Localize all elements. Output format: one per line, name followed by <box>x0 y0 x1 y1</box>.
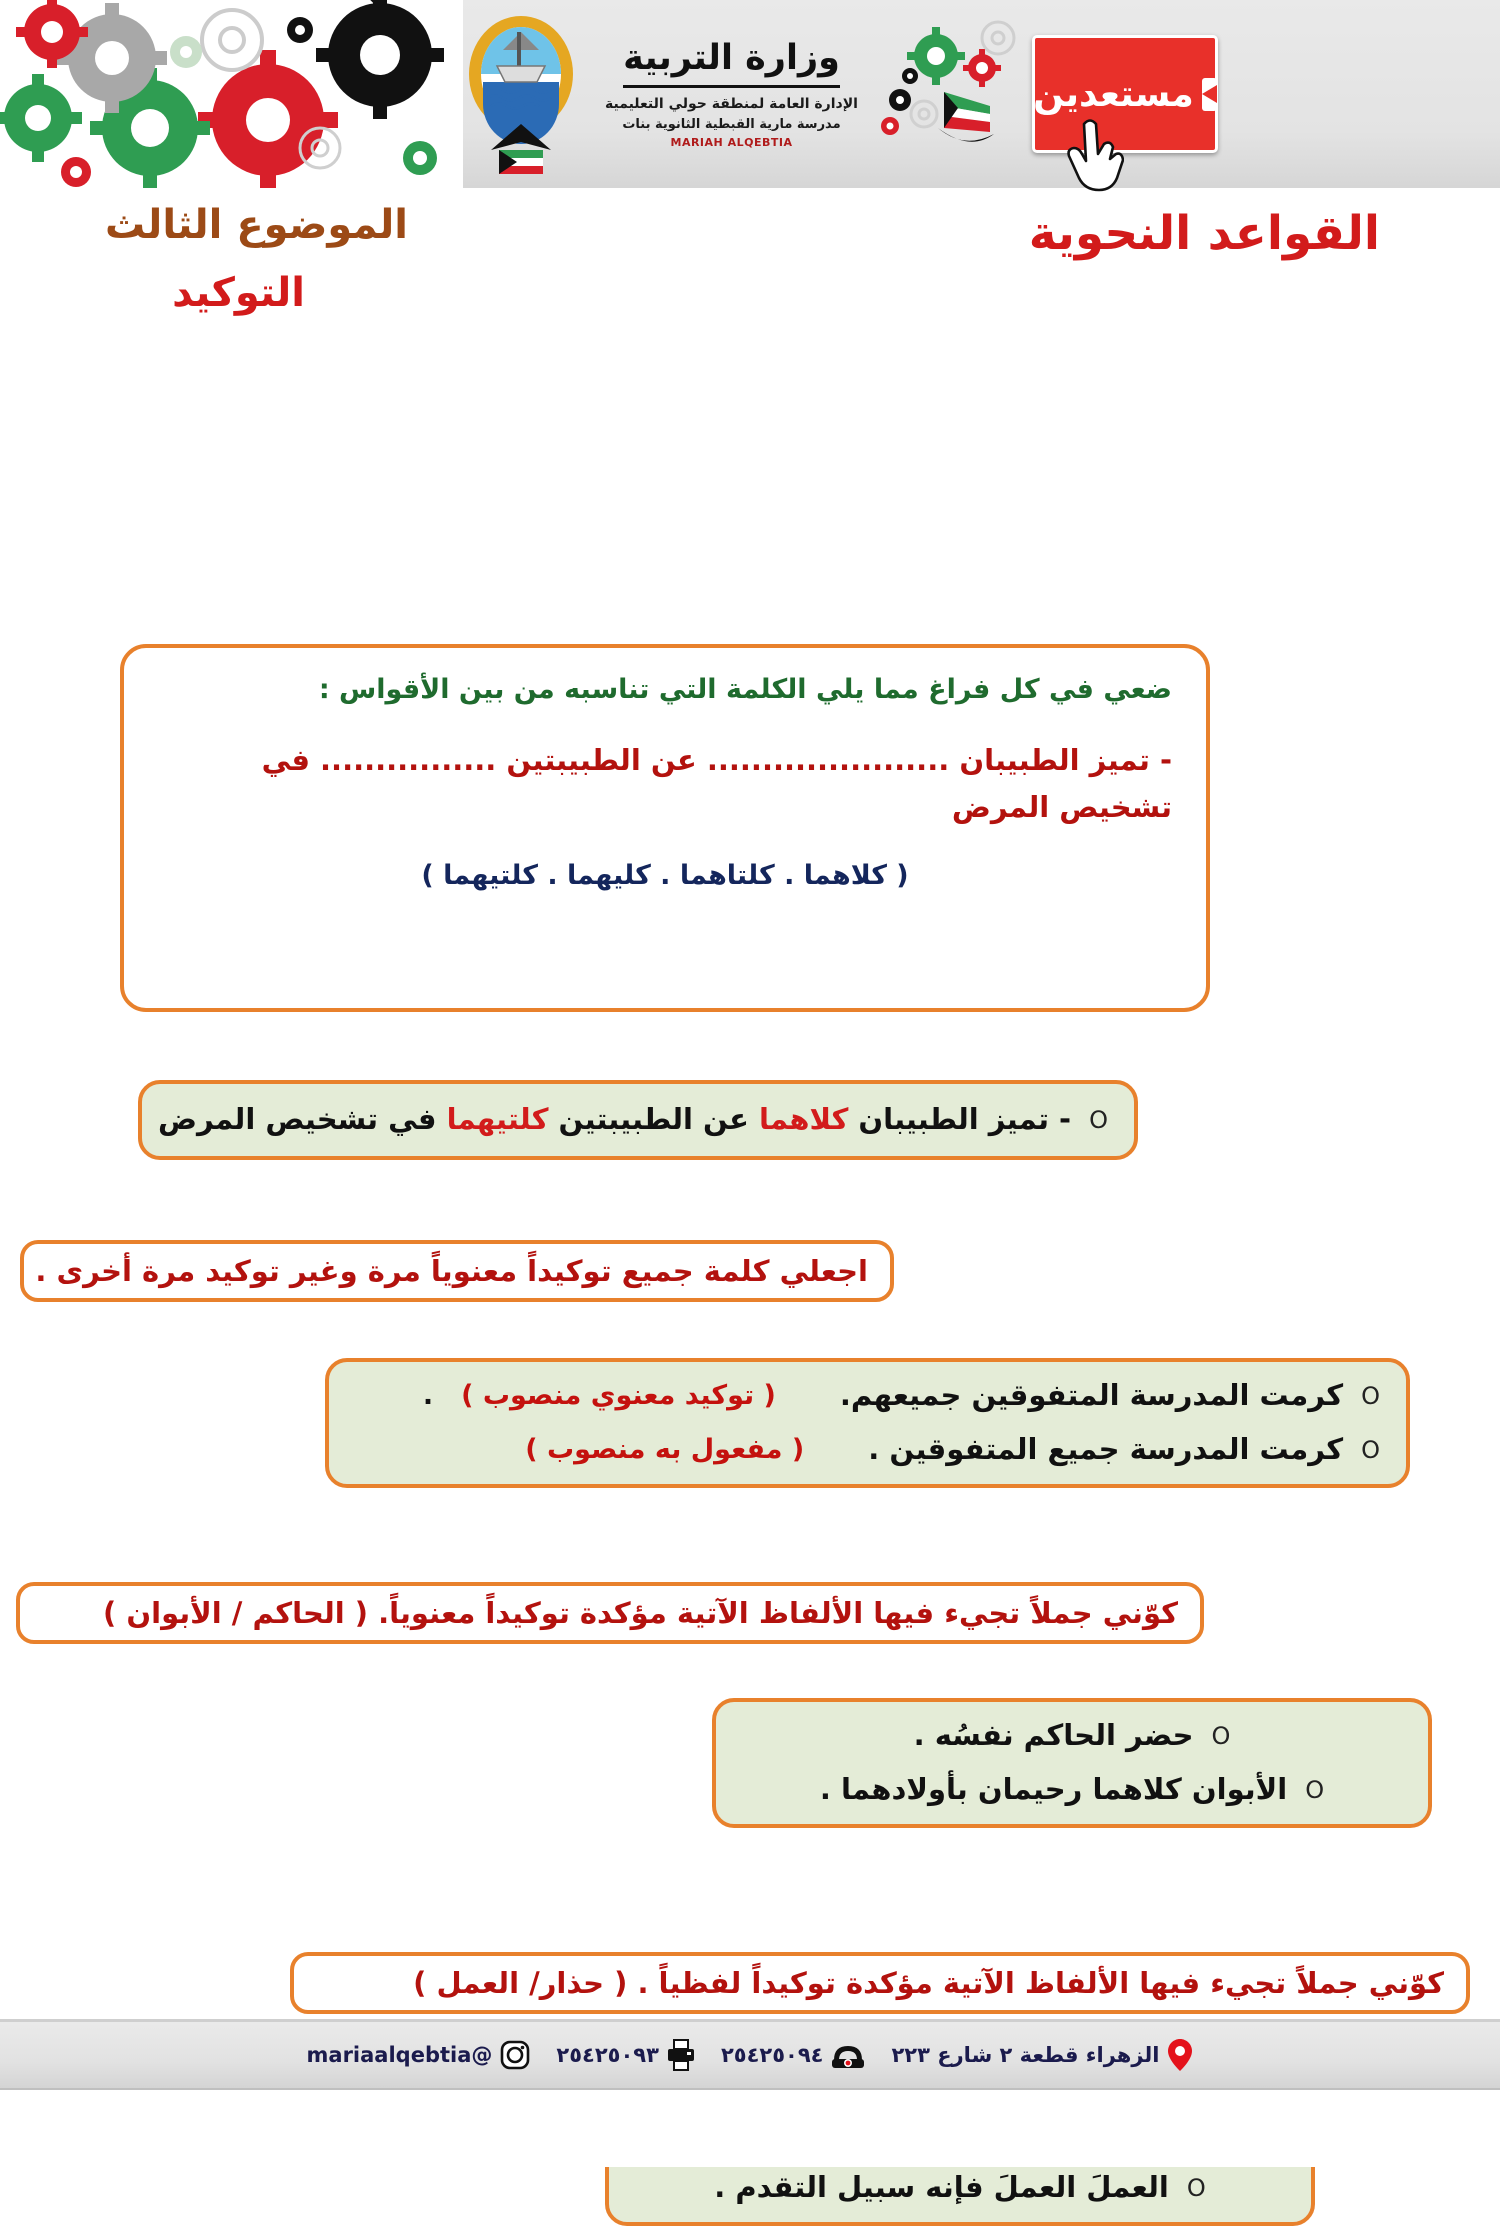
exercise2-sentence-1: كرمت المدرسة المتفوقين جميعهم. <box>840 1369 1343 1423</box>
header-ministry-bar: وزارة التربية الإدارة العامة لمنطقة حولي… <box>463 0 1500 188</box>
page-header: وزارة التربية الإدارة العامة لمنطقة حولي… <box>0 0 1500 188</box>
table-row: O كرمت المدرسة المتفوقين جميعهم. ( توكيد… <box>355 1369 1380 1423</box>
list-bullet: O <box>1187 2166 1206 2210</box>
answer-highlight-2: كلتيهما <box>447 1102 549 1136</box>
exercise1-answer-text: - تميز الطبيبان كلاهما عن الطبيبتين كلتي… <box>158 1093 1071 1147</box>
list-item: O العملَ العملَ فإنه سبيل التقدم . <box>714 2161 1205 2215</box>
answer-suffix: في تشخيص المرض <box>158 1102 447 1136</box>
footer-fax-number: ٢٥٤٢٥٠٩٣ <box>556 2043 659 2067</box>
pointing-hand-icon <box>1062 116 1124 194</box>
page-title: القواعد النحوية <box>1029 206 1380 261</box>
exercise4-instruction: كوّني جملاً تجيء فيها الألفاظ الآتية مؤك… <box>413 1963 1444 2004</box>
list-bullet: O <box>1212 1714 1231 1758</box>
footer-phone: ٢٥٤٢٥٠٩٤ <box>721 2040 866 2070</box>
exercise3-instruction: كوّني جملاً تجيء فيها الألفاظ الآتية مؤك… <box>103 1593 1178 1634</box>
exercise2-note-2: ( مفعول به منصوب ) <box>525 1425 804 1475</box>
table-row: O كرمت المدرسة جميع المتفوقين . ( مفعول … <box>355 1423 1380 1477</box>
answer-row: O - تميز الطبيبان كلاهما عن الطبيبتين كل… <box>158 1093 1108 1147</box>
gear-cluster-svg <box>870 14 1020 174</box>
list-item: O حضر الحاكم نفسُه . <box>914 1709 1231 1763</box>
exercise4-instruction-box: كوّني جملاً تجيء فيها الألفاظ الآتية مؤك… <box>290 1952 1470 2014</box>
footer-address: الزهراء قطعة ٢ شارع ٢٢٣ <box>891 2038 1193 2072</box>
footer-phone-number: ٢٥٤٢٥٠٩٤ <box>721 2043 824 2067</box>
ministry-school: مدرسة مارية القبطية الثانوية بنات <box>605 115 858 136</box>
kuwait-emblem-svg <box>463 12 579 177</box>
answer-middle: عن الطبيبتين <box>548 1102 759 1136</box>
footer-contact-bar: الزهراء قطعة ٢ شارع ٢٢٣ ٢٥٤٢٥٠٩٤ ٢٥٤٢٥٠٩… <box>0 2022 1500 2088</box>
exercise2-instruction: اجعلي كلمة جميع توكيداً معنوياً مرة وغير… <box>35 1251 868 1292</box>
footer-address-text: الزهراء قطعة ٢ شارع ٢٢٣ <box>891 2043 1159 2067</box>
fax-printer-icon <box>667 2039 695 2071</box>
ministry-school-latin: MARIAH ALQEBTIA <box>605 136 858 149</box>
exercise3-sentence-2: الأبوان كلاهما رحيمان بأولادهما . <box>820 1763 1287 1817</box>
exercise2-instruction-box: اجعلي كلمة جميع توكيداً معنوياً مرة وغير… <box>20 1240 894 1302</box>
exercise1-instruction: ضعي في كل فراغ مما يلي الكلمة التي تناسب… <box>158 668 1172 711</box>
ministry-directorate: الإدارة العامة لمنطقة حولي التعليمية <box>605 94 858 115</box>
exercise3-sentence-1: حضر الحاكم نفسُه . <box>914 1709 1194 1763</box>
exercise2-note-1: ( توكيد معنوي منصوب ) <box>461 1371 776 1421</box>
exercise4-sentence-2: العملَ العملَ فإنه سبيل التقدم . <box>714 2161 1169 2215</box>
ready-button-wrap: مستعدين <box>1020 0 1230 188</box>
footer-bottom-strip <box>0 2088 1500 2167</box>
title-area: القواعد النحوية الموضوع الثالث التوكيد <box>0 188 1500 328</box>
list-bullet: O <box>1089 1098 1108 1142</box>
list-bullet: O <box>1361 1428 1380 1472</box>
footer-instagram[interactable]: @mariaalqebtia <box>307 2040 531 2070</box>
list-bullet: O <box>1361 1374 1380 1418</box>
ready-button[interactable]: مستعدين <box>1032 35 1218 153</box>
exercise3-instruction-box: كوّني جملاً تجيء فيها الألفاظ الآتية مؤك… <box>16 1582 1204 1644</box>
kuwait-emblem-icon <box>463 12 579 177</box>
ready-button-label: مستعدين <box>1033 74 1194 115</box>
play-icon <box>1202 78 1217 111</box>
gear-pattern-svg <box>0 0 463 188</box>
subtopic-title: التوكيد <box>172 270 305 316</box>
gear-cluster-decoration <box>870 14 1020 174</box>
ministry-text-block: وزارة التربية الإدارة العامة لمنطقة حولي… <box>593 39 870 148</box>
exercise1-question-box: ضعي في كل فراغ مما يلي الكلمة التي تناسب… <box>120 644 1210 1012</box>
list-bullet: O <box>1305 1768 1324 1812</box>
footer-instagram-handle: @mariaalqebtia <box>307 2043 493 2067</box>
exercise1-choices: ( كلاهما . كلتاهما . كليهما . كلتيهما ) <box>158 860 1172 891</box>
location-pin-icon <box>1167 2038 1193 2072</box>
exercise1-sentence: - تميز الطبيبان ...................... ع… <box>158 737 1172 830</box>
exercise2-answer-box: O كرمت المدرسة المتفوقين جميعهم. ( توكيد… <box>325 1358 1410 1488</box>
exercise2-sentence-2: كرمت المدرسة جميع المتفوقين . <box>868 1423 1343 1477</box>
ministry-title: وزارة التربية <box>605 39 858 78</box>
exercise2-tail-1: . <box>423 1371 433 1421</box>
telephone-icon <box>831 2040 865 2070</box>
answer-highlight-1: كلاهما <box>759 1102 848 1136</box>
instagram-icon[interactable] <box>500 2040 530 2070</box>
ministry-divider <box>623 85 841 88</box>
answer-prefix: - تميز الطبيبان <box>848 1102 1071 1136</box>
topic-title: الموضوع الثالث <box>105 202 408 248</box>
exercise3-answer-box: O حضر الحاكم نفسُه . O الأبوان كلاهما رح… <box>712 1698 1432 1828</box>
gear-pattern-decoration <box>0 0 463 188</box>
exercise1-answer-box: O - تميز الطبيبان كلاهما عن الطبيبتين كل… <box>138 1080 1138 1160</box>
footer-fax: ٢٥٤٢٥٠٩٣ <box>556 2039 695 2071</box>
list-item: O الأبوان كلاهما رحيمان بأولادهما . <box>820 1763 1324 1817</box>
